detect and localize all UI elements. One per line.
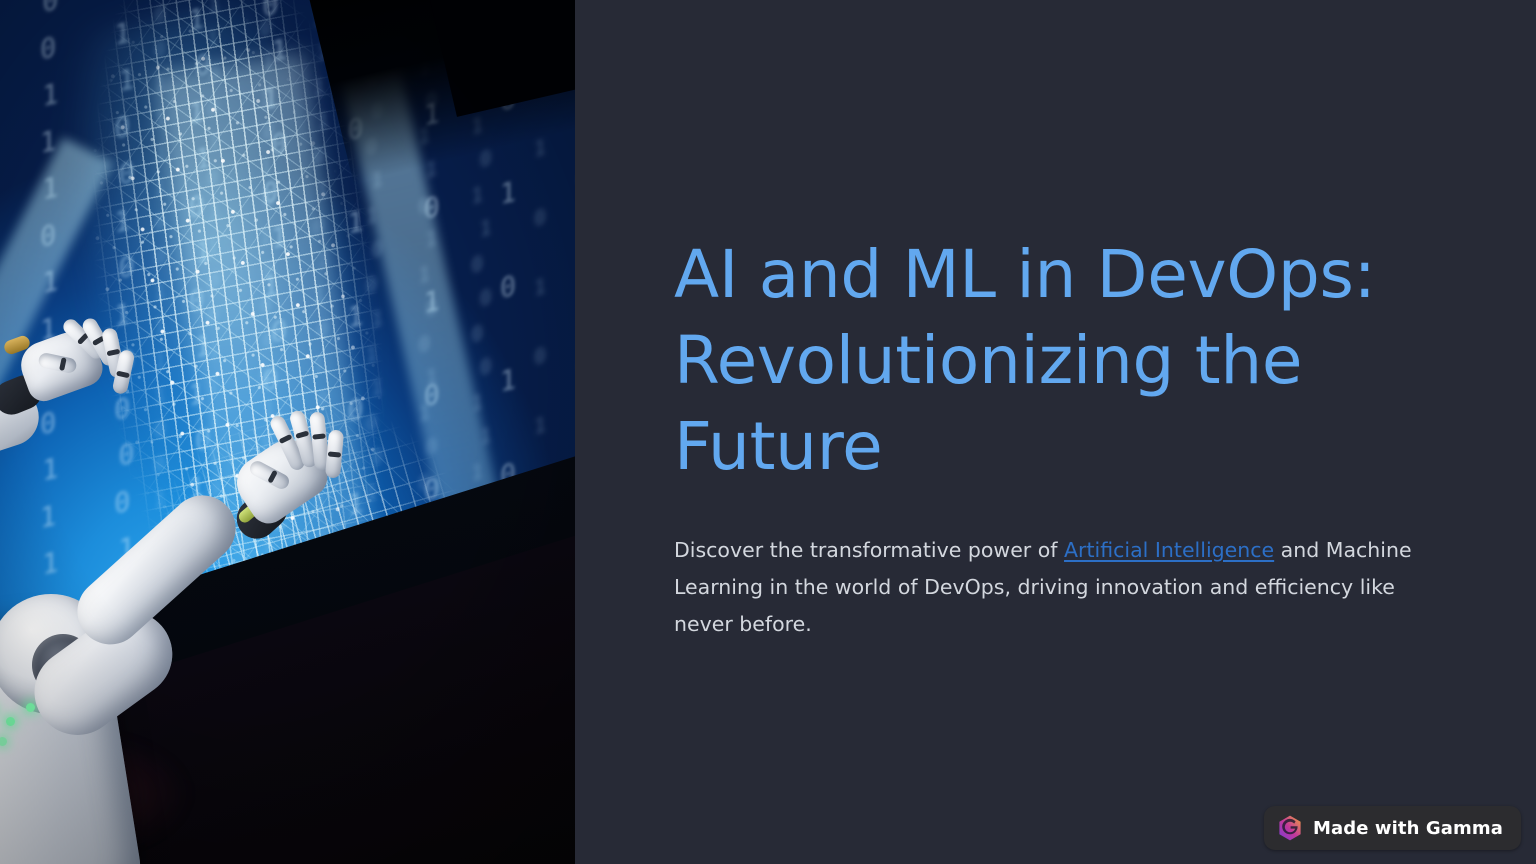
artificial-intelligence-link[interactable]: Artificial Intelligence	[1064, 538, 1274, 562]
robot-indicator-led	[26, 703, 35, 712]
presentation-slide: 0 1 1 0 1 0 1 1 0 0 1 0 1 1 0 1 1 0 1 1 …	[0, 0, 1536, 864]
badge-label: Made with Gamma	[1313, 818, 1503, 839]
gamma-logo-icon	[1278, 815, 1302, 841]
robot-indicator-led	[6, 717, 15, 726]
content-panel: AI and ML in DevOps: Revolutionizing the…	[575, 0, 1536, 864]
hero-image: 0 1 1 0 1 0 1 1 0 0 1 0 1 1 0 1 1 0 1 1 …	[0, 0, 575, 864]
slide-description: Discover the transformative power of Art…	[674, 532, 1436, 643]
humanoid-robot	[0, 304, 310, 864]
made-with-gamma-badge[interactable]: Made with Gamma	[1264, 806, 1521, 850]
description-lead-text: Discover the transformative power of	[674, 538, 1064, 562]
page-title: AI and ML in DevOps: Revolutionizing the…	[674, 232, 1436, 490]
